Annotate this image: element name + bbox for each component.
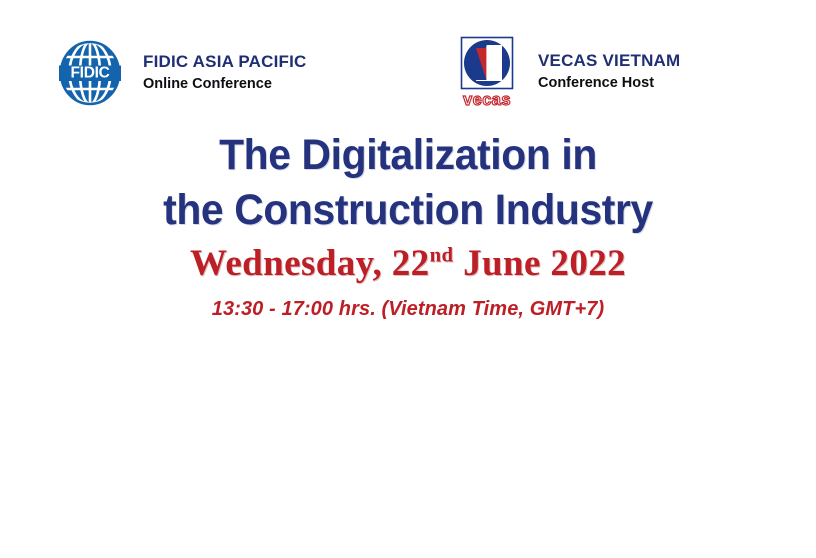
page-title: The Digitalization in the Construction I… xyxy=(0,128,816,238)
conference-title-slide: FIDIC FIDIC ASIA PACIFIC Online Conferen… xyxy=(0,0,816,558)
svg-text:vecas: vecas xyxy=(463,91,511,109)
event-date-prefix: Wednesday, 22 xyxy=(190,243,430,284)
fidic-org-role: Online Conference xyxy=(143,75,307,94)
title-line-2: the Construction Industry xyxy=(20,183,795,238)
fidic-logo-block: FIDIC FIDIC ASIA PACIFIC Online Conferen… xyxy=(58,40,307,106)
vecas-emblem-icon: vecas xyxy=(456,36,518,114)
fidic-org-name: FIDIC ASIA PACIFIC xyxy=(143,52,307,72)
vecas-org-name: VECAS VIETNAM xyxy=(538,51,680,71)
vecas-logo-block: vecas VECAS VIETNAM Conference Host xyxy=(456,36,680,114)
event-date-suffix: June 2022 xyxy=(453,243,626,284)
vecas-logo-text: VECAS VIETNAM Conference Host xyxy=(538,36,680,93)
title-line-1: The Digitalization in xyxy=(20,128,795,183)
fidic-logo-text: FIDIC ASIA PACIFIC Online Conference xyxy=(143,40,307,94)
logo-header-band: FIDIC FIDIC ASIA PACIFIC Online Conferen… xyxy=(0,36,816,120)
event-date-ordinal: nd xyxy=(430,245,454,267)
event-date: Wednesday, 22nd June 2022 xyxy=(0,242,816,286)
event-time: 13:30 - 17:00 hrs. (Vietnam Time, GMT+7) xyxy=(0,296,816,322)
svg-text:FIDIC: FIDIC xyxy=(71,65,110,82)
vecas-org-role: Conference Host xyxy=(538,74,680,93)
fidic-globe-icon: FIDIC xyxy=(58,40,122,106)
